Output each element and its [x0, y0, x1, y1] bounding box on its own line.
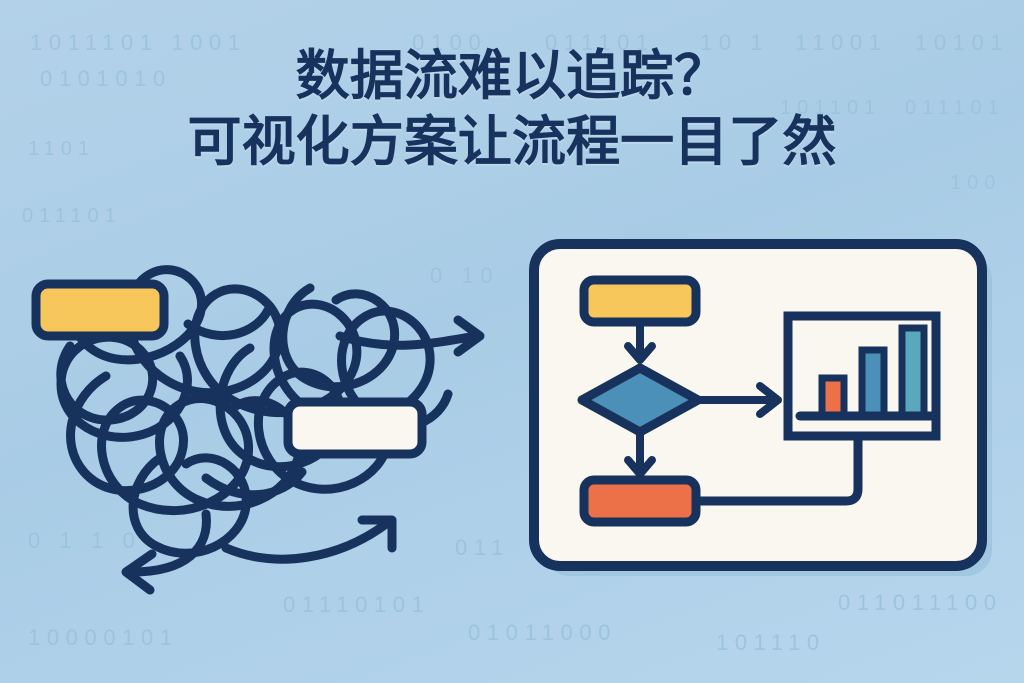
clean-flowchart-illustration	[512, 228, 1012, 588]
binary-text: 10000101	[28, 625, 179, 651]
binary-text: 011101	[22, 205, 122, 228]
chart-bar-1	[822, 378, 844, 416]
page-title: 数据流难以追踪？ 可视化方案让流程一目了然	[0, 48, 1024, 170]
messy-data-flow-illustration	[10, 228, 510, 608]
flow-start-node	[584, 280, 696, 322]
binary-text: 011011100	[838, 590, 1003, 616]
title-line-1: 数据流难以追踪？	[0, 48, 1024, 104]
binary-text: 01011000	[468, 620, 617, 646]
chart-bar-2	[862, 350, 884, 416]
tangle-arrow-upright-icon	[226, 520, 392, 559]
chart-bar-3	[902, 328, 924, 416]
binary-text: 100	[950, 172, 1001, 195]
tangle-source-box	[36, 284, 164, 336]
poster-canvas: 1011101 1001010001110110 111001101010101…	[0, 0, 1024, 683]
title-line-2: 可视化方案让流程一目了然	[0, 114, 1024, 170]
tangle-target-box	[288, 402, 422, 454]
flow-end-node	[584, 480, 696, 522]
binary-text: 101110	[716, 630, 826, 656]
